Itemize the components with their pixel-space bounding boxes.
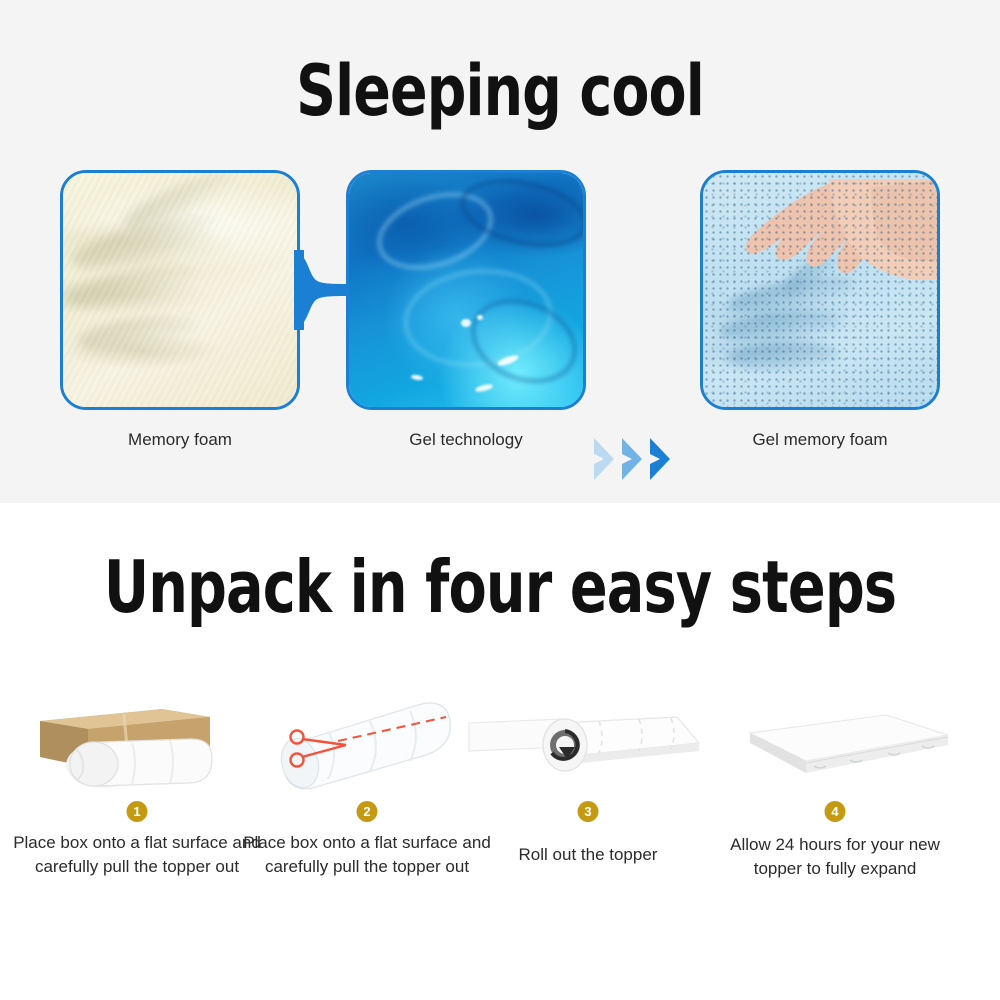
scissors-cutting-plastic-wrap-icon	[242, 683, 492, 793]
step-number-badge: 4	[825, 801, 846, 822]
panel-memory-foam	[60, 170, 300, 410]
panel-gel-memory-foam	[700, 170, 940, 410]
foam-dent	[726, 270, 859, 320]
cardboard-box-with-wrapped-roll-icon	[12, 683, 262, 793]
step-item: 3 Roll out the topper	[463, 683, 713, 933]
gel-highlight	[411, 374, 424, 381]
foam-dent	[67, 205, 221, 279]
gel-memory-foam-texture-icon	[703, 173, 937, 407]
unrolling-topper-icon	[463, 683, 713, 793]
hand-icon	[721, 179, 940, 299]
step-item: 2 Place box onto a flat surface and care…	[242, 683, 492, 933]
memory-foam-texture-icon	[63, 173, 297, 407]
steps-row: 1 Place box onto a flat surface and care…	[0, 683, 1000, 943]
flat-expanded-topper-icon	[710, 683, 960, 793]
foam-dent	[778, 250, 840, 302]
foam-dent	[718, 307, 840, 345]
gel-swirl-texture-icon	[349, 173, 583, 407]
panel-gel-technology	[346, 170, 586, 410]
panel-captions: Memory foam Gel technology Gel memory fo…	[0, 430, 1000, 460]
caption-gel-memory-foam: Gel memory foam	[700, 430, 940, 450]
step-description: Place box onto a flat surface and carefu…	[12, 831, 262, 879]
caption-gel-technology: Gel technology	[346, 430, 586, 450]
step-item: 1 Place box onto a flat surface and care…	[12, 683, 262, 933]
unpack-steps-section: Unpack in four easy steps 1	[0, 503, 1000, 1000]
step-description: Place box onto a flat surface and carefu…	[242, 831, 492, 879]
foam-technology-panels	[0, 170, 1000, 410]
foam-dent	[727, 341, 840, 371]
gel-highlight	[475, 383, 494, 393]
foam-dent	[119, 170, 239, 236]
foam-dent	[75, 311, 198, 357]
gel-highlight	[477, 315, 483, 320]
step-number-badge: 2	[357, 801, 378, 822]
infographic-page: Sleeping cool	[0, 0, 1000, 1000]
caption-memory-foam: Memory foam	[60, 430, 300, 450]
step-description: Roll out the topper	[463, 843, 713, 867]
foam-dent	[61, 257, 204, 315]
gel-highlight	[461, 319, 471, 327]
step-number-badge: 3	[578, 801, 599, 822]
step-description: Allow 24 hours for your new topper to fu…	[710, 833, 960, 881]
page-title-sleeping-cool: Sleeping cool	[60, 50, 940, 132]
panel-connector-icon	[294, 244, 352, 336]
step-number-badge: 1	[127, 801, 148, 822]
step-item: 4 Allow 24 hours for your new topper to …	[710, 683, 960, 933]
page-title-unpack: Unpack in four easy steps	[70, 545, 930, 629]
sleeping-cool-section: Sleeping cool	[0, 0, 1000, 503]
